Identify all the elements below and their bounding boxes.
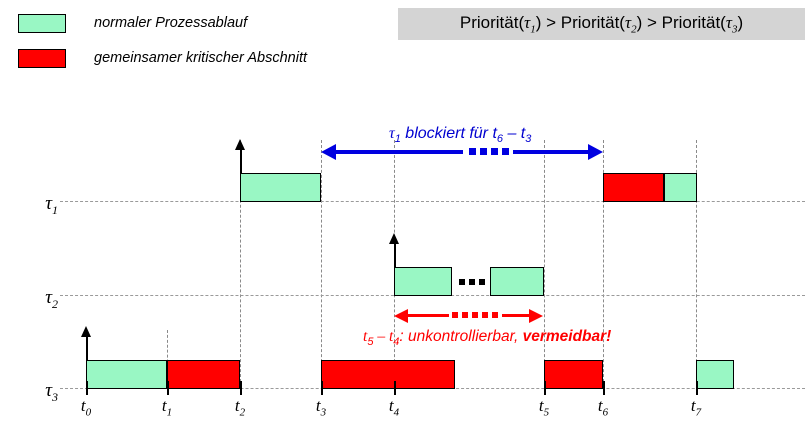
tau3-index: 3 xyxy=(52,390,58,404)
axis-label-t6: t6 xyxy=(586,396,620,418)
tau2-glyph: τ xyxy=(45,287,52,308)
tau1-index: 1 xyxy=(52,203,58,217)
tau3-glyph: τ xyxy=(45,380,52,401)
exec-block-tau3-critical-2 xyxy=(321,360,455,389)
blocked-arrow-head-right xyxy=(588,144,603,160)
gap-dot-tau2-1 xyxy=(459,279,465,285)
uncontrollable-gap-dot-2 xyxy=(462,312,468,318)
blocked-arrow-shaft-left xyxy=(335,150,463,154)
timing-diagram: τ1 τ2 τ3 t0 t1 xyxy=(0,0,812,432)
blocked-gap-dot-1 xyxy=(469,148,476,155)
uncontrollable-annotation-text: t5 – t4: unkontrollierbar, vermeidbar! xyxy=(363,328,611,348)
axis-tick-t0 xyxy=(86,381,88,395)
exec-block-tau2-normal-1 xyxy=(394,267,452,296)
uncontrollable-bold-text: vermeidbar! xyxy=(523,328,612,345)
t0-index: 0 xyxy=(86,406,92,418)
uncontrollable-arrow-shaft-left xyxy=(407,314,449,317)
axis-label-t0: t0 xyxy=(69,396,103,418)
t2-index: 2 xyxy=(240,406,246,418)
task-label-tau3: τ3 xyxy=(18,380,58,405)
axis-tick-t4 xyxy=(394,381,396,395)
axis-tick-t6 xyxy=(603,381,605,395)
blocked-gap-dot-4 xyxy=(502,148,509,155)
uncontrollable-gap-dot-5 xyxy=(492,312,498,318)
uncontrollable-tail-text: : unkontrollierbar, xyxy=(399,328,522,345)
axis-tick-t3 xyxy=(321,381,323,395)
t1-index: 1 xyxy=(167,406,173,418)
uncontrollable-gap-dot-1 xyxy=(452,312,458,318)
task-label-tau1: τ1 xyxy=(18,193,58,218)
uncontrollable-double-arrow xyxy=(394,309,544,324)
blocked-double-arrow xyxy=(321,144,603,161)
tau2-index: 2 xyxy=(52,297,58,311)
exec-block-tau3-critical-1 xyxy=(167,360,240,389)
t7-index: 7 xyxy=(696,406,702,418)
blocked-annotation-text: τ1 blockiert für t6 – t3 xyxy=(389,125,531,145)
blocked-mid-text: – t xyxy=(503,125,525,142)
task-label-tau2: τ2 xyxy=(18,287,58,312)
uncontrollable-arrow-head-right xyxy=(529,309,543,323)
blocked-main-text: blockiert für t xyxy=(401,125,497,142)
axis-tick-t5 xyxy=(544,381,546,395)
blocked-gap-dot-3 xyxy=(491,148,498,155)
tau1-glyph: τ xyxy=(45,193,52,214)
exec-block-tau2-normal-2 xyxy=(490,267,544,296)
axis-label-t3: t3 xyxy=(304,396,338,418)
gap-dot-tau2-2 xyxy=(469,279,475,285)
blocked-gap-dot-2 xyxy=(480,148,487,155)
t4-index: 4 xyxy=(394,406,400,418)
exec-block-tau1-normal-2 xyxy=(664,173,697,202)
exec-block-tau3-normal-1 xyxy=(86,360,167,389)
blocked-arrow-head-left xyxy=(321,144,336,160)
uncontrollable-gap-dot-3 xyxy=(472,312,478,318)
gridline-t5 xyxy=(544,140,545,392)
t3-index: 3 xyxy=(321,406,327,418)
gridline-t3 xyxy=(321,140,322,392)
axis-tick-t2 xyxy=(240,381,242,395)
exec-block-tau3-critical-3 xyxy=(544,360,603,389)
axis-label-t5: t5 xyxy=(527,396,561,418)
axis-tick-t1 xyxy=(167,381,169,395)
axis-label-t2: t2 xyxy=(223,396,257,418)
gap-dot-tau2-3 xyxy=(479,279,485,285)
t6-index: 6 xyxy=(603,406,609,418)
axis-label-t7: t7 xyxy=(679,396,713,418)
blocked-arrow-shaft-right xyxy=(513,150,589,154)
axis-label-t4: t4 xyxy=(377,396,411,418)
exec-block-tau1-normal-1 xyxy=(240,173,321,202)
uncontrollable-mid-text: – t xyxy=(373,328,393,345)
exec-block-tau1-critical-1 xyxy=(603,173,664,202)
t5-index: 5 xyxy=(544,406,550,418)
uncontrollable-arrow-shaft-right xyxy=(502,314,530,317)
axis-label-t1: t1 xyxy=(150,396,184,418)
uncontrollable-arrow-head-left xyxy=(394,309,408,323)
exec-block-tau3-normal-2 xyxy=(696,360,734,389)
uncontrollable-gap-dot-4 xyxy=(482,312,488,318)
axis-tick-t7 xyxy=(696,381,698,395)
